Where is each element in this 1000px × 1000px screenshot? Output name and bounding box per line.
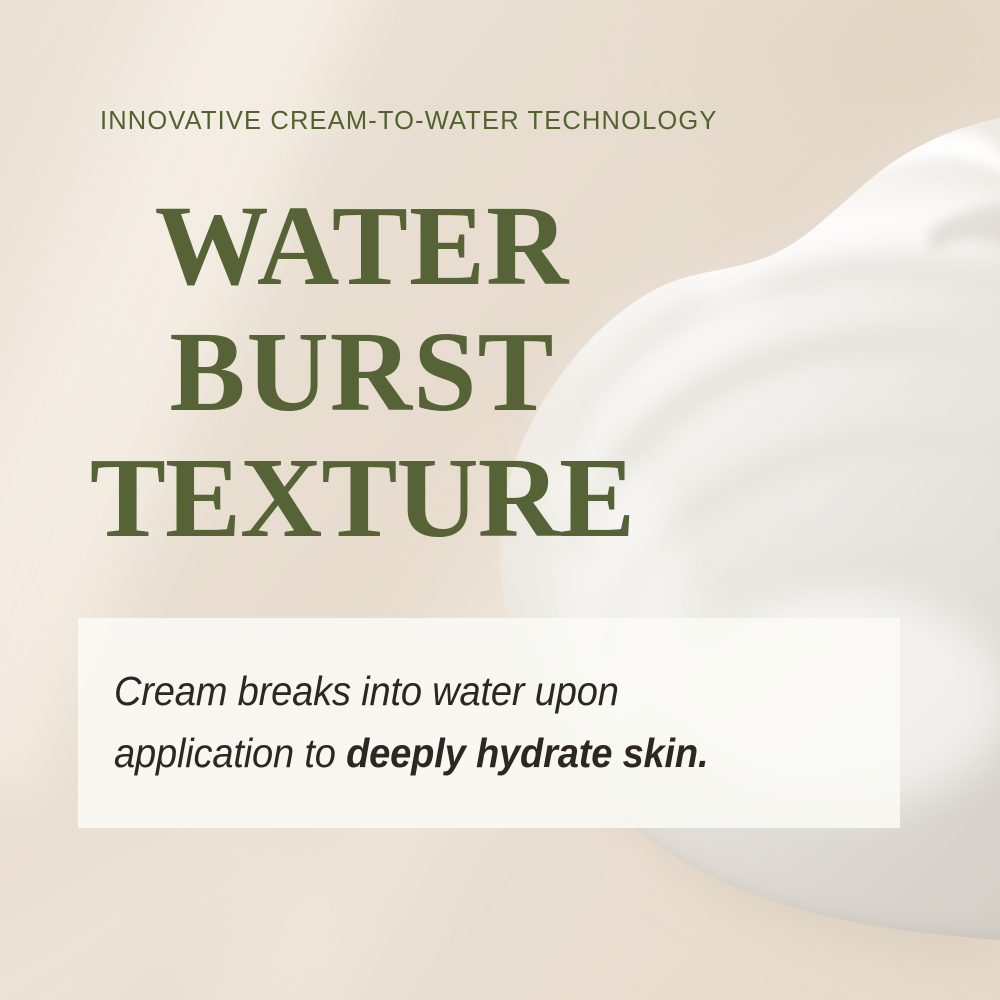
caption-line-1: Cream breaks into water upon (114, 660, 828, 722)
eyebrow-text: INNOVATIVE CREAM-TO-WATER TECHNOLOGY (100, 107, 718, 136)
headline-line-3: TEXTURE (44, 435, 680, 561)
caption-line-2: application to deeply hydrate skin. (114, 722, 828, 784)
caption-emphasis: deeply hydrate skin. (346, 730, 708, 776)
caption-line-2-regular: application to (114, 730, 346, 776)
headline-line-1: WATER (44, 183, 680, 309)
page-title: WATER BURST TEXTURE (44, 183, 680, 561)
caption-text: Cream breaks into water upon application… (114, 660, 828, 784)
headline-line-2: BURST (44, 309, 680, 435)
poster-canvas: INNOVATIVE CREAM-TO-WATER TECHNOLOGY WAT… (0, 0, 1000, 1000)
